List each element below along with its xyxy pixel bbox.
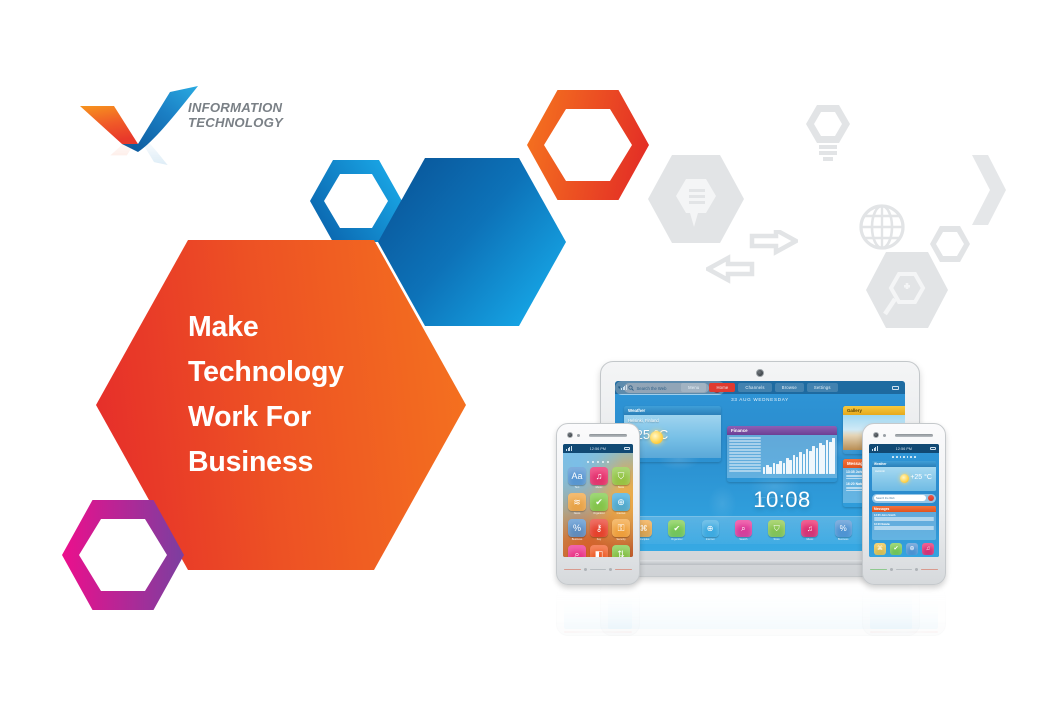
finance-bar — [793, 455, 796, 474]
app-music[interactable]: ♫Music — [590, 467, 608, 489]
phone-weather-widget[interactable]: Weather Helsinki +25 °C — [872, 461, 936, 491]
finance-bar — [769, 467, 772, 474]
app-label: Business — [572, 538, 583, 541]
app-text[interactable]: AaText — [568, 467, 586, 489]
finance-table-row — [729, 452, 761, 454]
status-time: 12:56 PM — [896, 447, 912, 451]
organizer-icon: ✔ — [668, 520, 685, 537]
message-header: 16:20 Natalie — [874, 523, 934, 526]
contrast-icon: ◧ — [590, 545, 608, 557]
tablet-dock[interactable]: ⌘Principles✔Organizer⊕Internet⌕Search⛉St… — [623, 516, 897, 544]
dock-app-label: Business — [838, 538, 849, 541]
dock-app-music[interactable]: ♫Music — [801, 520, 818, 541]
tablet-camera-icon — [756, 369, 764, 377]
page-dots — [872, 456, 936, 458]
weather-temperature: +25 °C — [628, 427, 717, 442]
tablet-date: 33 AUG WEDNESDAY — [615, 397, 905, 402]
page-headline: Make Technology Work For Business — [188, 305, 403, 485]
app-business[interactable]: %Business — [568, 519, 586, 541]
finance-bar — [822, 445, 825, 474]
dock-app-business[interactable]: %Business — [835, 520, 852, 541]
device-group: MenuHomeChannelsBrowseSettings 33 AUG WE… — [556, 361, 948, 631]
finance-bar — [796, 457, 799, 474]
message-text-line — [874, 519, 934, 520]
finance-bar — [763, 467, 766, 474]
front-camera-icon — [567, 432, 573, 438]
principles-icon[interactable]: ⌘ — [874, 543, 886, 555]
news-icon: ≋ — [568, 493, 586, 511]
app-search[interactable]: ⌕Search — [568, 545, 586, 557]
app-organizer[interactable]: ✔Organizer — [590, 493, 608, 515]
right-phone-top-bar — [871, 431, 937, 439]
music-icon: ♫ — [801, 520, 818, 537]
search-icon: ⌕ — [568, 545, 586, 557]
finance-table-row — [729, 443, 761, 445]
tablet-status-bar: MenuHomeChannelsBrowseSettings — [615, 381, 905, 394]
message-item[interactable]: 16:20 Natalie — [874, 523, 934, 530]
finance-bar — [779, 461, 782, 474]
front-camera-icon — [873, 432, 879, 438]
app-label: Key — [597, 538, 601, 541]
left-phone-wallpaper: AaText♫Music⛉Store≋News✔Organizer⊕Intern… — [563, 453, 633, 557]
message-text-line — [874, 528, 934, 529]
store-icon: ⛉ — [612, 467, 630, 485]
finance-table-row — [729, 440, 761, 442]
weather-city: Helsinki — [875, 469, 933, 473]
battery-icon — [892, 386, 899, 390]
globe-icon — [858, 203, 906, 251]
app-label: Music — [596, 486, 603, 489]
page-dots — [568, 461, 628, 463]
security-icon: ⚿ — [612, 519, 630, 537]
left-phone-top-bar — [565, 431, 631, 439]
app-key[interactable]: ⚷Key — [590, 519, 608, 541]
app-internet[interactable]: ⊕Internet — [612, 493, 630, 515]
finance-bar-chart — [763, 437, 835, 476]
finance-bar — [819, 443, 822, 474]
right-phone-status-bar: 12:56 PM — [869, 444, 939, 453]
tablet-finance-widget[interactable]: Finance — [727, 426, 837, 482]
internet-icon: ⊕ — [702, 520, 719, 537]
app-news[interactable]: ≋News — [568, 493, 586, 515]
proximity-sensor-icon — [883, 434, 886, 437]
finance-table-row — [729, 467, 761, 469]
right-phone-reflection — [862, 586, 946, 636]
lightbulb-icon — [802, 103, 854, 165]
phone-dock[interactable]: ⌘✔⊕♫ — [872, 543, 936, 555]
finance-table — [729, 437, 761, 476]
music-icon[interactable]: ♫ — [922, 543, 934, 555]
tab-browse[interactable]: Browse — [775, 383, 804, 392]
dock-app-search[interactable]: ⌕Search — [735, 520, 752, 541]
magenta-hexagon-outline — [62, 500, 184, 610]
finance-bar — [773, 463, 776, 474]
finance-table-row — [729, 458, 761, 460]
brand-name-text: INFORMATION TECHNOLOGY — [188, 100, 283, 130]
finance-bar — [783, 463, 786, 474]
dock-app-internet[interactable]: ⊕Internet — [702, 520, 719, 541]
finance-bar — [816, 448, 819, 474]
right-phone-keys[interactable] — [870, 567, 938, 572]
app-label: Store — [618, 486, 624, 489]
weather-city: Helsinki, Finland — [628, 418, 717, 423]
app-label: News — [574, 512, 581, 515]
right-phone-screen[interactable]: 12:56 PM Weather Helsinki +25 °C — [869, 444, 939, 557]
finance-table-row — [729, 446, 761, 448]
finance-table-row — [729, 449, 761, 451]
store-icon: ⛉ — [768, 520, 785, 537]
finance-bar — [776, 464, 779, 474]
search-plus-icon — [866, 252, 948, 328]
finance-bar — [812, 446, 815, 474]
signal-icon — [621, 385, 627, 390]
finance-bar — [789, 460, 792, 474]
weather-title: Weather — [624, 406, 721, 415]
downloads-icon: ⇅ — [612, 545, 630, 557]
right-phone-wallpaper: Weather Helsinki +25 °C Search the Web — [869, 453, 939, 557]
app-contrast[interactable]: ◧Contrast — [590, 545, 608, 557]
search-input[interactable]: Search the Web — [874, 495, 926, 501]
earpiece-speaker — [895, 434, 933, 437]
finance-bar — [809, 451, 812, 474]
app-security[interactable]: ⚿Security — [612, 519, 630, 541]
app-downloads[interactable]: ⇅Downloads — [612, 545, 630, 557]
business-icon: % — [568, 519, 586, 537]
finance-title: Finance — [727, 426, 837, 435]
app-label: Security — [616, 538, 625, 541]
internet-icon[interactable]: ⊕ — [906, 543, 918, 555]
left-phone-status-bar: 12:56 PM — [563, 444, 633, 453]
phone-search-bar[interactable]: Search the Web — [872, 494, 936, 503]
finance-bar — [766, 465, 769, 474]
dock-app-label: Internet — [706, 538, 715, 541]
finance-bar — [826, 440, 829, 474]
finance-table-row — [729, 464, 761, 466]
weather-humidity: 78% — [628, 442, 717, 448]
signal-icon — [566, 446, 572, 451]
poster-canvas: INFORMATION TECHNOLOGY — [0, 0, 1042, 708]
battery-icon — [624, 447, 630, 450]
finance-table-row — [729, 470, 761, 472]
dock-app-store[interactable]: ⛉Store — [768, 520, 785, 541]
dock-app-label: Organizer — [671, 538, 682, 541]
messages-list: 13:35 John Smith16:20 Natalie — [872, 512, 936, 540]
finance-table-row — [729, 461, 761, 463]
finance-table-row — [729, 437, 761, 439]
right-phone-device[interactable]: 12:56 PM Weather Helsinki +25 °C — [862, 423, 946, 585]
finance-bar — [806, 449, 809, 474]
sun-icon — [650, 431, 663, 444]
finance-bar — [786, 458, 789, 474]
left-phone-reflection — [556, 586, 640, 636]
dock-app-organizer[interactable]: ✔Organizer — [668, 520, 685, 541]
internet-icon: ⊕ — [612, 493, 630, 511]
key-icon: ⚷ — [590, 519, 608, 537]
weather-temperature: +25 °C — [910, 474, 932, 481]
search-icon: ⌕ — [735, 520, 752, 537]
logo-reflection — [78, 132, 200, 166]
search-placeholder: Search the Web — [876, 497, 895, 500]
organizer-icon: ✔ — [590, 493, 608, 511]
gallery-title: Gallery — [843, 406, 905, 415]
tab-home[interactable]: Home — [709, 383, 735, 392]
chevron-icon — [972, 155, 1006, 225]
organizer-icon[interactable]: ✔ — [890, 543, 902, 555]
tablet-nav-tabs[interactable]: MenuHomeChannelsBrowseSettings — [681, 383, 837, 392]
tab-channels[interactable]: Channels — [738, 383, 771, 392]
signal-icon — [872, 446, 878, 451]
left-phone-screen[interactable]: 12:56 PM AaText♫Music⛉Store≋News✔Organiz… — [563, 444, 633, 557]
app-label: Internet — [617, 512, 626, 515]
status-time: 12:56 PM — [590, 447, 606, 451]
earpiece-speaker — [589, 434, 627, 437]
dock-app-label: Search — [739, 538, 747, 541]
finance-table-row — [729, 455, 761, 457]
phone-messages-widget[interactable]: Messages 13:35 John Smith16:20 Natalie — [872, 506, 936, 540]
message-header: 13:35 John Smith — [874, 514, 934, 517]
tablet-clock-reflection: 10:08 — [727, 494, 837, 508]
finance-bar — [832, 438, 835, 474]
finance-bar — [829, 442, 832, 474]
music-icon: ♫ — [590, 467, 608, 485]
text-icon: Aa — [568, 467, 586, 485]
sun-icon — [900, 474, 909, 483]
dock-app-label: Store — [774, 538, 780, 541]
dock-app-label: Music — [806, 538, 813, 541]
exchange-arrows-icon — [706, 230, 798, 286]
finance-bar — [799, 452, 802, 474]
tab-menu[interactable]: Menu — [681, 383, 706, 392]
tab-settings[interactable]: Settings — [807, 383, 838, 392]
app-label: Text — [575, 486, 580, 489]
app-label: Organizer — [593, 512, 604, 515]
brand-logo[interactable]: INFORMATION TECHNOLOGY — [78, 84, 318, 168]
left-phone-keys[interactable] — [564, 567, 632, 572]
business-icon: % — [835, 520, 852, 537]
search-go-button[interactable] — [928, 495, 934, 501]
left-phone-device[interactable]: 12:56 PM AaText♫Music⛉Store≋News✔Organiz… — [556, 423, 640, 585]
proximity-sensor-icon — [577, 434, 580, 437]
tablet-reflection — [600, 578, 920, 636]
message-item[interactable]: 13:35 John Smith — [874, 514, 934, 521]
finance-bar — [803, 454, 806, 474]
app-grid[interactable]: AaText♫Music⛉Store≋News✔Organizer⊕Intern… — [568, 467, 628, 557]
app-store[interactable]: ⛉Store — [612, 467, 630, 489]
battery-icon — [930, 447, 936, 450]
